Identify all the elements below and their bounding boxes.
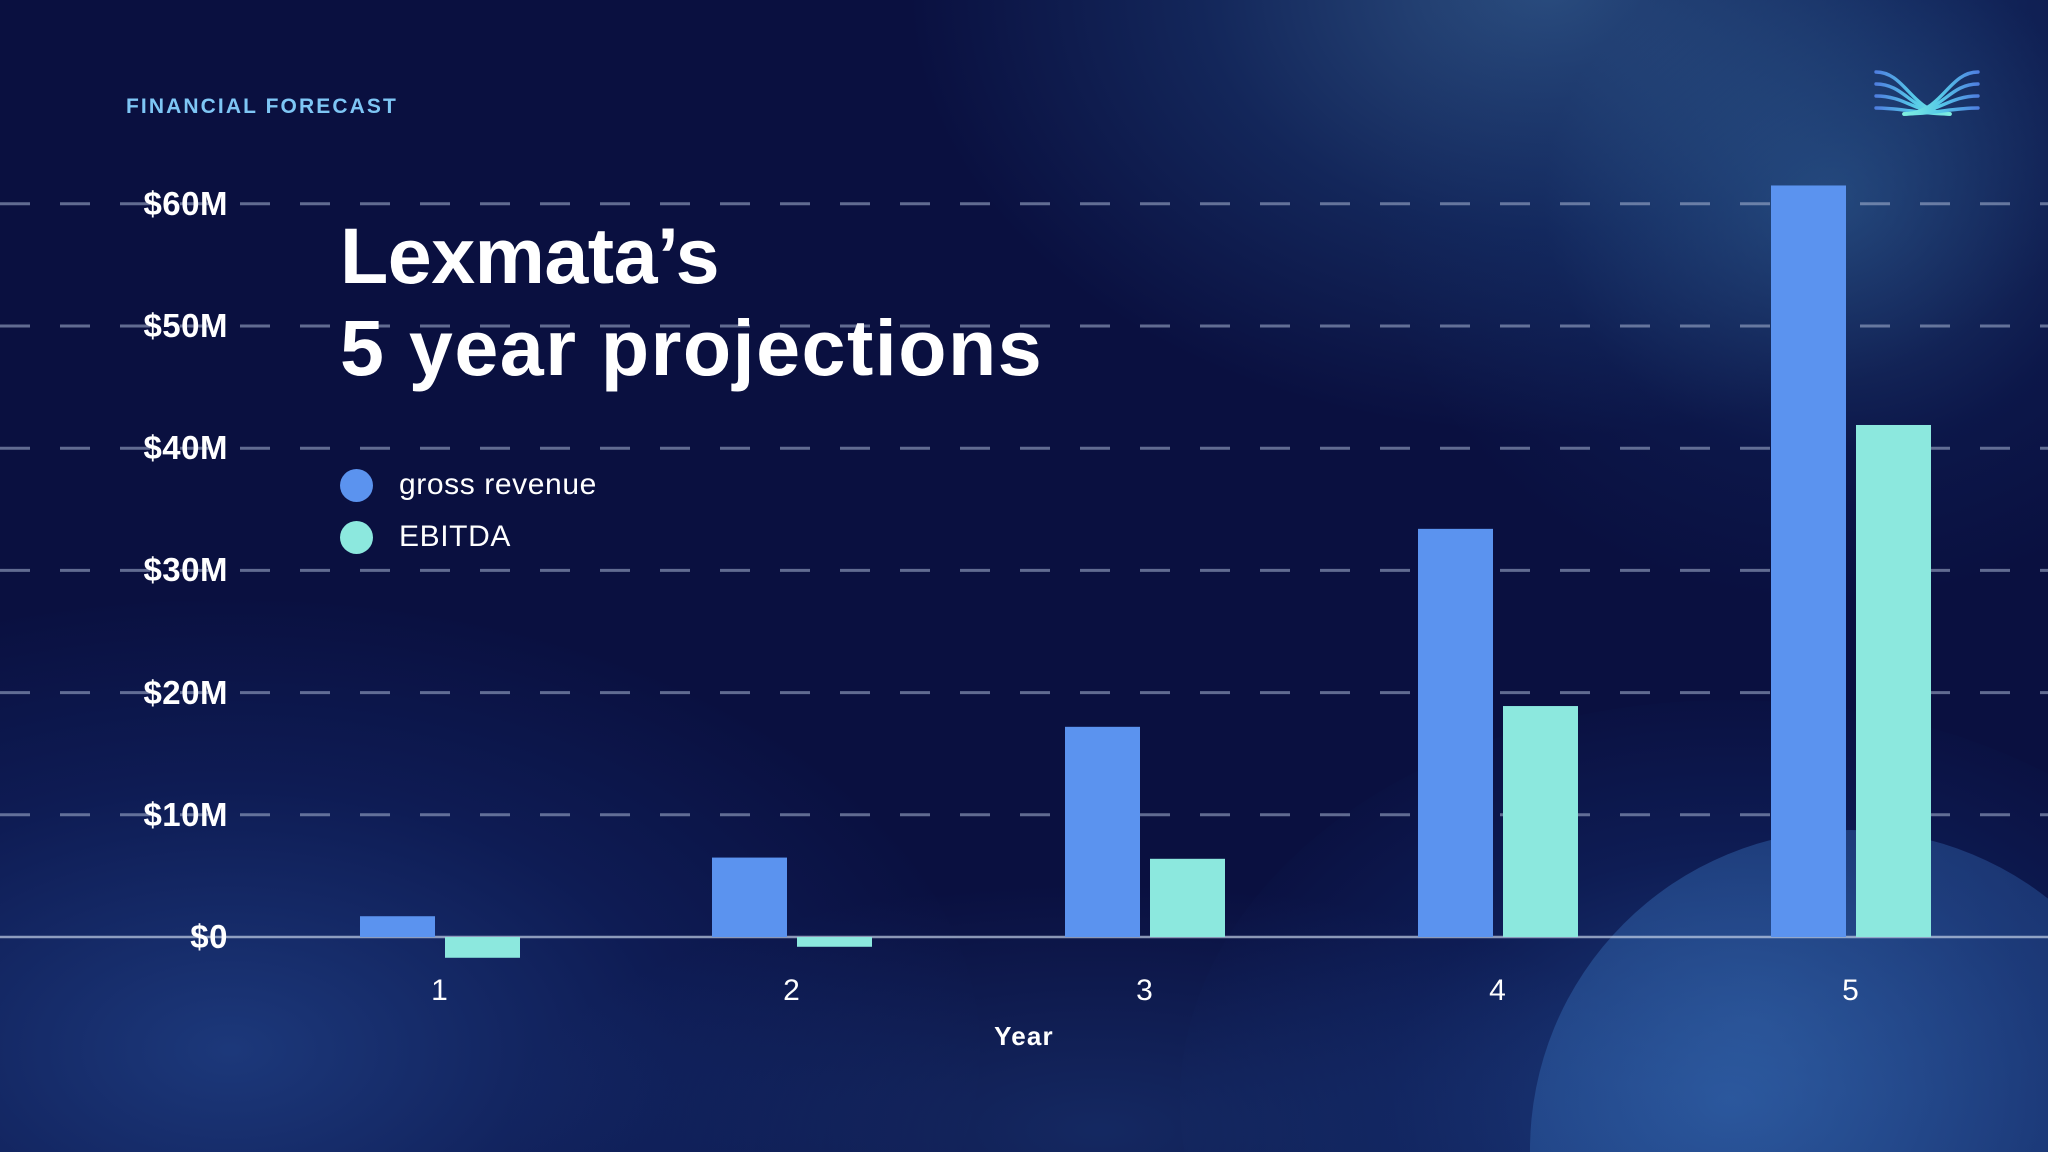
legend-swatch-icon — [340, 469, 373, 502]
legend-item-gross-revenue[interactable]: gross revenue — [340, 459, 597, 511]
y-axis-tick-label: $10M — [143, 796, 228, 834]
bar[interactable] — [445, 937, 520, 958]
y-axis-tick-label: $50M — [143, 307, 228, 345]
bar[interactable] — [1771, 185, 1846, 937]
bar[interactable] — [1065, 727, 1140, 937]
x-axis-tick-label: 5 — [1842, 974, 1860, 1008]
bar[interactable] — [360, 916, 435, 937]
chart-title: Lexmata’s 5 year projections — [340, 210, 1340, 393]
legend-item-ebitda[interactable]: EBITDA — [340, 511, 597, 563]
bar[interactable] — [1418, 529, 1493, 937]
x-axis-tick-label: 2 — [783, 974, 801, 1008]
bar[interactable] — [712, 858, 787, 937]
chart-title-line1: Lexmata’s — [340, 210, 1340, 302]
chart-plot-area — [0, 0, 2048, 1152]
bar[interactable] — [1150, 859, 1225, 937]
x-axis-title: Year — [994, 1021, 1054, 1052]
legend-swatch-icon — [340, 521, 373, 554]
legend-label: EBITDA — [399, 520, 511, 554]
y-axis-tick-label: $20M — [143, 674, 228, 712]
bar[interactable] — [1856, 425, 1931, 937]
legend-label: gross revenue — [399, 468, 597, 502]
chart-legend: gross revenue EBITDA — [340, 459, 597, 563]
chart-title-line2: 5 year projections — [340, 302, 1340, 394]
bar[interactable] — [797, 937, 872, 947]
y-axis-tick-labels: $60M$50M$40M$30M$20M$10M$0 — [0, 0, 228, 1152]
bar[interactable] — [1503, 706, 1578, 937]
y-axis-tick-label: $60M — [143, 185, 228, 223]
y-axis-tick-label: $40M — [143, 429, 228, 467]
slide-canvas: FINANCIAL FORECAST — [0, 0, 2048, 1152]
x-axis-tick-label: 4 — [1489, 974, 1507, 1008]
x-axis-tick-label: 3 — [1136, 974, 1154, 1008]
y-axis-tick-label: $30M — [143, 551, 228, 589]
x-axis-tick-label: 1 — [431, 974, 449, 1008]
y-axis-tick-label: $0 — [190, 918, 228, 956]
